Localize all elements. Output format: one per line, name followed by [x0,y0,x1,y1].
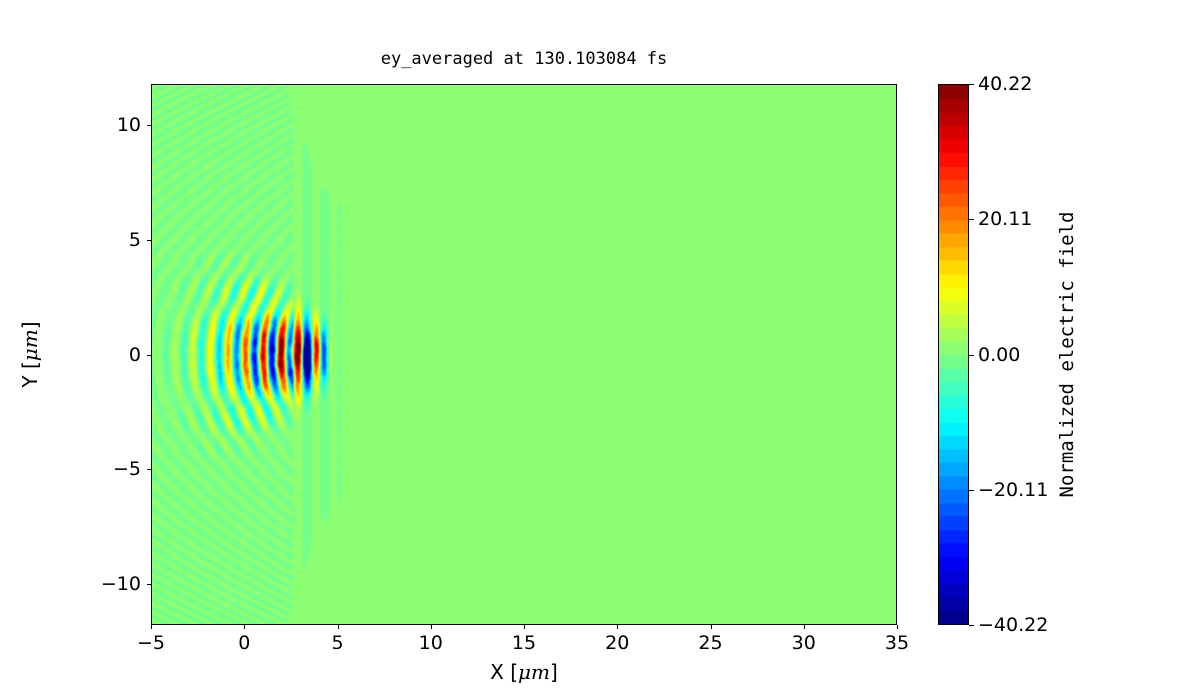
colorbar-tick-label: −20.11 [978,479,1048,501]
x-tick-mark [151,625,152,629]
y-tick-mark [147,469,151,470]
x-tick-label: 35 [885,632,909,654]
x-tick-label: 30 [792,632,816,654]
colorbar-tick-mark [969,490,974,491]
x-tick-mark [338,625,339,629]
x-tick-mark [897,625,898,629]
colorbar-label: Normalized electric field [1056,84,1082,625]
x-tick-mark [617,625,618,629]
y-tick-label: −10 [101,573,141,595]
x-axis-label-prefix: X [ [490,660,518,684]
y-axis-label-prefix: Y [ [18,361,42,387]
page-title: ey_averaged at 130.103084 fs [151,48,897,70]
x-tick-mark [244,625,245,629]
heatmap-axes[interactable] [151,84,897,625]
y-tick-label: 5 [129,229,141,251]
x-axis-label-suffix: ] [550,660,558,684]
matplotlib-figure: ey_averaged at 130.103084 fs −5051015202… [0,0,1200,700]
y-axis-label: Y [μm] [18,84,46,625]
x-tick-label: 15 [512,632,536,654]
colorbar-tick-mark [969,219,974,220]
x-tick-label: 20 [605,632,629,654]
x-tick-mark [431,625,432,629]
colorbar-tick-label: −40.22 [978,614,1048,636]
x-axis-label: X [μm] [151,660,897,684]
y-tick-mark [147,355,151,356]
x-tick-mark [524,625,525,629]
x-tick-mark [711,625,712,629]
x-axis-label-unit: μm [518,660,550,684]
field-heatmap-image [152,85,896,624]
x-tick-label: 0 [238,632,250,654]
colorbar-gradient [939,85,968,624]
x-tick-label: 25 [698,632,722,654]
y-tick-label: 0 [129,344,141,366]
colorbar-tick-label: 0.00 [978,344,1020,366]
x-tick-label: 5 [331,632,343,654]
x-tick-mark [804,625,805,629]
y-tick-label: 10 [117,114,141,136]
colorbar-tick-mark [969,355,974,356]
y-tick-mark [147,240,151,241]
x-tick-label: 10 [419,632,443,654]
y-tick-mark [147,125,151,126]
x-tick-label: −5 [137,632,165,654]
colorbar-tick-mark [969,625,974,626]
y-axis-label-suffix: ] [18,321,42,329]
y-tick-mark [147,584,151,585]
y-axis-label-unit: μm [18,329,42,361]
colorbar[interactable] [938,84,969,625]
colorbar-tick-mark [969,84,974,85]
colorbar-tick-label: 40.22 [978,73,1032,95]
y-tick-label: −5 [113,458,141,480]
colorbar-tick-label: 20.11 [978,208,1032,230]
